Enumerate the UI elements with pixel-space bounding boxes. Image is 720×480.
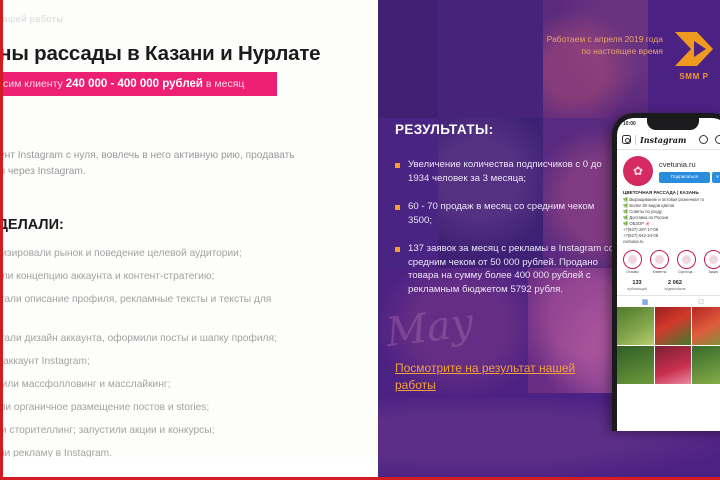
- highlight-item[interactable]: Клиенты: [649, 250, 670, 275]
- working-period-line-1: Работаем с апреля 2019 года: [547, 33, 663, 45]
- photo-grid: [617, 307, 720, 384]
- list-item: Увеличение количества подписчиков с 0 до…: [395, 158, 620, 185]
- list-item: астроили органичное размещение постов и …: [3, 400, 307, 416]
- list-item: роанализировали рынок и поведение целево…: [3, 246, 307, 262]
- phone-screen: 10:00 Instagram cvetunia.ru Подписаться …: [617, 118, 720, 431]
- working-period-line-2: по настоящее время: [547, 45, 663, 57]
- list-item: азработали описание профиля, рекламные т…: [3, 292, 307, 324]
- stat-value: 2 062: [660, 280, 690, 286]
- photo-thumbnail[interactable]: [655, 307, 692, 345]
- camera-icon[interactable]: [622, 135, 631, 144]
- play-logo-icon: [671, 28, 717, 70]
- chevron-down-icon[interactable]: ∨: [712, 172, 720, 183]
- stat-posts: 133 публикаций: [622, 280, 652, 291]
- list-item: 137 заявок за месяц с рекламы в Instagra…: [395, 242, 620, 296]
- profile-bio: ЦВЕТОЧНАЯ РАССАДА | КАЗАНЬ 🌿 Выращивание…: [617, 186, 720, 245]
- background-tile: [438, 0, 543, 118]
- ghost-cutoff-text: нашей работы: [3, 14, 63, 24]
- photo-thumbnail[interactable]: [617, 307, 654, 345]
- highlight-banner-text: сим клиенту 240 000 - 400 000 рублей в м…: [3, 78, 244, 90]
- bio-lines: 🌿 Выращивание и оптовая розничная то 🌿 Б…: [623, 197, 720, 245]
- results-list: Увеличение количества подписчиков с 0 до…: [395, 158, 620, 311]
- instagram-top-bar: Instagram: [617, 130, 720, 150]
- banner-amount: 240 000 - 400 000 рублей: [66, 78, 203, 90]
- list-item: одключили массфолловинг и масслайкинг;: [3, 377, 307, 393]
- list-item: оздали аккаунт Instagram;: [3, 354, 307, 370]
- highlight-label: Клиенты: [649, 270, 670, 274]
- what-we-did-heading: МЫ СДЕЛАЛИ:: [3, 217, 64, 233]
- compass-icon[interactable]: [699, 135, 708, 144]
- list-item: 60 - 70 продаж в месяц со средним чеком …: [395, 200, 620, 227]
- phone-notch: [647, 118, 699, 130]
- list-item: апустили рекламу в Instagram.: [3, 446, 307, 457]
- stat-value: 133: [622, 280, 652, 286]
- what-we-did-list: роанализировали рынок и поведение целево…: [3, 246, 307, 457]
- stat-label: публикаций: [622, 287, 652, 291]
- profile-stats: 133 публикаций 2 062 подписчиков: [617, 274, 720, 295]
- photo-thumbnail[interactable]: [655, 346, 692, 384]
- page-title: газины рассады в Казани и Нурлате: [3, 42, 320, 66]
- highlight-label: Сорта цв...: [676, 270, 697, 274]
- background-tile: [378, 0, 438, 120]
- photo-thumbnail[interactable]: [692, 307, 720, 345]
- highlight-ring-icon: [650, 250, 669, 269]
- highlight-ring-icon: [704, 250, 720, 269]
- profile-info: cvetunia.ru Подписаться ∨: [659, 160, 720, 183]
- highlight-banner: сим клиенту 240 000 - 400 000 рублей в м…: [3, 72, 277, 96]
- list-item: азработали дизайн аккаунта, оформили пос…: [3, 331, 307, 347]
- banner-prefix: сим клиенту: [3, 78, 63, 90]
- instagram-wordmark: Instagram: [635, 135, 686, 145]
- highlight-item[interactable]: Акции: [703, 250, 720, 275]
- left-content-panel: нашей работы газины рассады в Казани и Н…: [3, 0, 373, 457]
- tab-tagged[interactable]: ⊡: [673, 298, 720, 306]
- banner-suffix: в месяц: [206, 78, 245, 90]
- status-time: 10:00: [623, 121, 636, 127]
- profile-handle: cvetunia.ru: [659, 160, 720, 169]
- phone-mockup: 10:00 Instagram cvetunia.ru Подписаться …: [612, 113, 720, 431]
- profile-actions: Подписаться ∨: [659, 172, 720, 183]
- highlight-item[interactable]: Отзывы: [622, 250, 643, 275]
- working-period-note: Работаем с апреля 2019 года по настоящее…: [547, 33, 663, 57]
- highlight-item[interactable]: Сорта цв...: [676, 250, 697, 275]
- bio-display-name: ЦВЕТОЧНАЯ РАССАДА | КАЗАНЬ: [623, 190, 720, 195]
- list-item: родумали концепцию аккаунта и контент-ст…: [3, 269, 307, 285]
- story-highlights: Отзывы Клиенты Сорта цв... Акции: [617, 245, 720, 275]
- goal-description: ь аккаунт Instagram с нуля, вовлечь в не…: [3, 148, 301, 180]
- background-tile: [543, 0, 648, 118]
- heart-icon[interactable]: [715, 135, 720, 144]
- results-heading: РЕЗУЛЬТАТЫ:: [395, 122, 493, 137]
- tab-grid[interactable]: ▦: [617, 298, 673, 306]
- photo-thumbnail[interactable]: [617, 346, 654, 384]
- list-item: обавили сторителлинг; запустили акции и …: [3, 423, 307, 439]
- brand-logo-text: SMM Р: [665, 72, 720, 81]
- photo-thumbnail[interactable]: [692, 346, 720, 384]
- profile-header: cvetunia.ru Подписаться ∨: [617, 150, 720, 186]
- follow-button[interactable]: Подписаться: [659, 172, 710, 183]
- brand-logo: SMM Р: [665, 28, 720, 81]
- highlight-ring-icon: [623, 250, 642, 269]
- highlight-ring-icon: [677, 250, 696, 269]
- stat-followers[interactable]: 2 062 подписчиков: [660, 280, 690, 291]
- highlight-label: Отзывы: [622, 270, 643, 274]
- view-our-work-link[interactable]: Посмотрите на результат нашей работы: [395, 360, 605, 394]
- stat-label: подписчиков: [660, 287, 690, 291]
- highlight-label: Акции: [703, 270, 720, 274]
- profile-tabs: ▦ ⊡: [617, 295, 720, 307]
- avatar[interactable]: [623, 156, 653, 186]
